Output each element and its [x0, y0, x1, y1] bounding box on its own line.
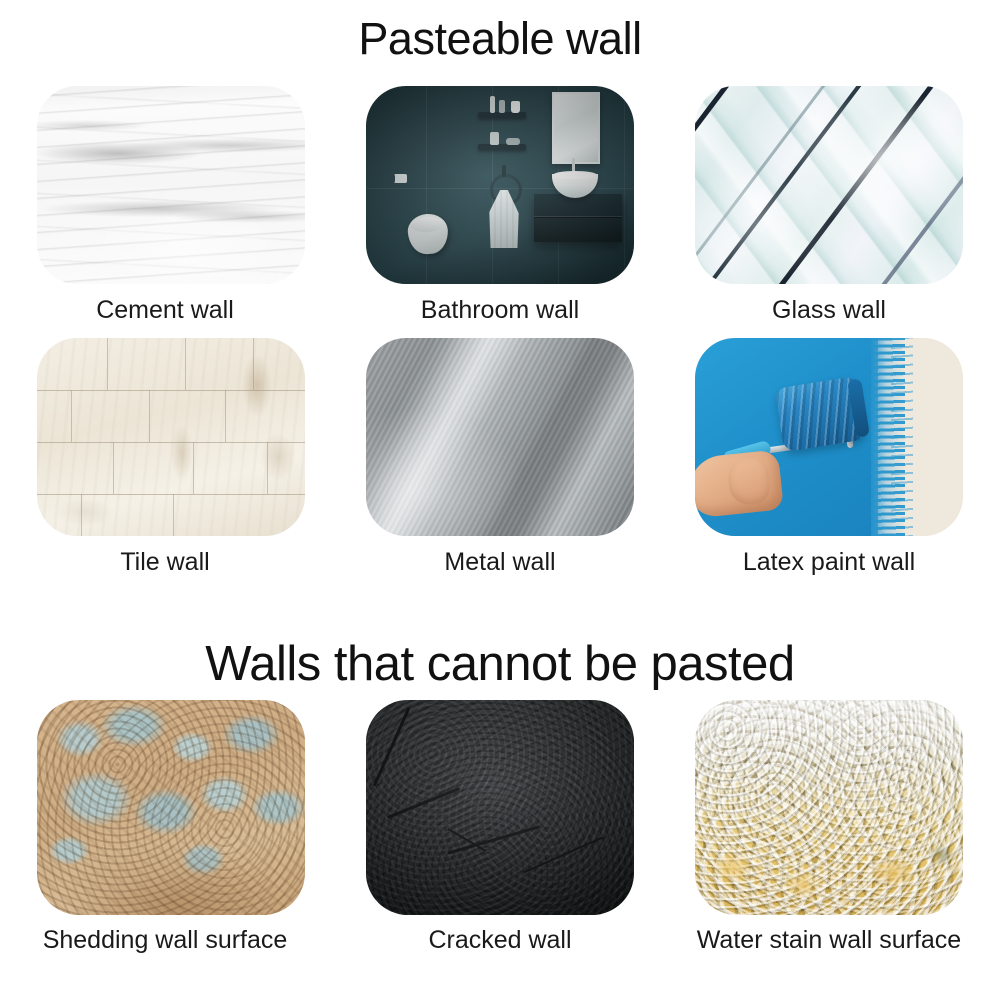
card-cement-wall[interactable]: Cement wall: [28, 86, 314, 325]
not-pasteable-row: Shedding wall surface Cracked wall Water…: [0, 700, 1000, 955]
card-label-cement-wall: Cement wall: [96, 297, 234, 325]
card-metal-wall[interactable]: Metal wall: [357, 338, 643, 577]
card-cracked-wall[interactable]: Cracked wall: [357, 700, 643, 955]
water-stain-wall-texture: [695, 700, 963, 915]
pasteable-row-1: Cement wall: [0, 86, 1000, 325]
card-latex-paint-wall[interactable]: Latex paint wall: [686, 338, 972, 577]
pasteable-row-2: Tile wall Metal wall Latex p: [0, 338, 1000, 577]
latex-paint-wall-photo: [695, 338, 963, 536]
card-shedding-wall-surface[interactable]: Shedding wall surface: [28, 700, 314, 955]
infographic-page: Pasteable wall Cement wall: [0, 0, 1000, 1000]
card-label-cracked-wall: Cracked wall: [428, 927, 571, 955]
card-label-glass-wall: Glass wall: [772, 297, 886, 325]
card-label-water-stain-wall-surface: Water stain wall surface: [697, 927, 961, 955]
cracked-wall-texture: [366, 700, 634, 915]
section-title-not-pasteable: Walls that cannot be pasted: [0, 640, 1000, 689]
card-label-shedding-wall-surface: Shedding wall surface: [43, 927, 288, 955]
bathroom-vignette: [366, 86, 634, 284]
paint-edge-spatter: [891, 338, 913, 536]
glass-wall-texture: [695, 86, 963, 284]
glass-sheen: [695, 86, 963, 284]
card-bathroom-wall[interactable]: Bathroom wall: [357, 86, 643, 325]
metal-wall-texture: [366, 338, 634, 536]
card-label-metal-wall: Metal wall: [444, 549, 555, 577]
shedding-wall-texture: [37, 700, 305, 915]
hand-icon: [695, 449, 784, 518]
card-tile-wall[interactable]: Tile wall: [28, 338, 314, 577]
tile-wall-texture: [37, 338, 305, 536]
cement-wall-texture: [37, 86, 305, 284]
card-glass-wall[interactable]: Glass wall: [686, 86, 972, 325]
tile-grout-lines: [37, 338, 305, 536]
paint-roller-icon: [775, 376, 867, 452]
card-label-latex-paint-wall: Latex paint wall: [743, 549, 915, 577]
card-water-stain-wall-surface[interactable]: Water stain wall surface: [686, 700, 972, 955]
card-label-tile-wall: Tile wall: [120, 549, 209, 577]
card-label-bathroom-wall: Bathroom wall: [421, 297, 579, 325]
cracked-vignette: [366, 700, 634, 915]
section-title-pasteable: Pasteable wall: [0, 16, 1000, 61]
bathroom-wall-photo: [366, 86, 634, 284]
